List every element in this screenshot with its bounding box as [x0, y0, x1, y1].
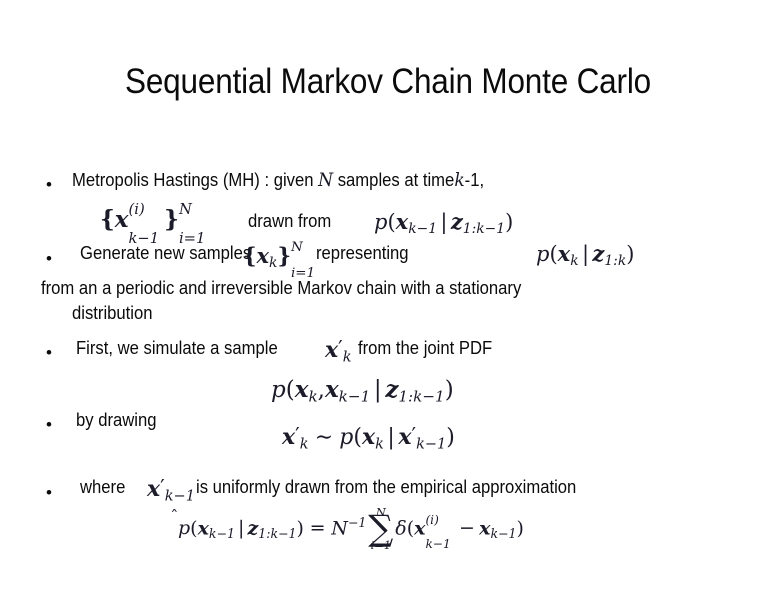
bullet-marker-2: •: [46, 250, 52, 267]
math-x-7: x: [282, 424, 295, 450]
math-sub-k-3: k: [570, 253, 578, 269]
math-x-symbol: x: [115, 206, 129, 233]
math-lparen-5: (: [190, 517, 197, 539]
math-z-2: z: [592, 241, 604, 266]
math-p-hat: p̂: [178, 517, 190, 539]
math-superscript-i-2: (i): [425, 513, 438, 527]
math-p: p: [374, 210, 387, 234]
math-superscript-i: (i): [129, 201, 145, 218]
page-title: Sequential Markov Chain Monte Carlo: [39, 62, 737, 102]
math-sub-k-5: k: [308, 388, 317, 406]
math-z: z: [451, 209, 463, 234]
math-rparen-3: ): [445, 377, 454, 403]
math-sample-set-prev: {x(i)k−1}Ni=1: [100, 206, 212, 233]
math-posterior-prev: p(xk−1|z1:k−1): [374, 209, 513, 234]
math-x: x: [396, 209, 409, 234]
math-sub-1-k: 1:k: [604, 253, 626, 269]
math-sub-k-minus-1-2: k−1: [339, 388, 371, 406]
math-sub-k-minus-1-5: k−1: [209, 526, 235, 541]
math-rparen-6: ): [517, 517, 524, 539]
math-x-10: x: [147, 476, 160, 502]
math-p-5: p: [178, 517, 190, 539]
math-sub-k-minus-1: k−1: [408, 221, 437, 237]
bullet-4-text: by drawing: [76, 410, 157, 430]
math-x-5: x: [295, 376, 309, 403]
math-rbrace-2: }: [277, 243, 291, 268]
math-joint-pdf: p(xk,xk−1|z1:k−1): [271, 376, 454, 403]
math-sub-k-4: k: [343, 349, 352, 365]
math-p-2: p: [536, 242, 549, 266]
math-sub-k-7: k: [375, 436, 384, 452]
math-z-4: z: [247, 517, 258, 539]
math-x-9: x: [398, 424, 411, 450]
bullet-1-text-a: Metropolis Hastings (MH) : given: [72, 169, 314, 190]
bullet-marker-3: •: [46, 344, 52, 361]
bullet-2-text: Generate new samples: [80, 243, 251, 263]
math-rparen: ): [505, 210, 513, 234]
math-x-prime-k-minus-1: x′k−1: [147, 475, 195, 502]
math-conditional-bar: |: [437, 210, 451, 234]
math-x-13: x: [479, 517, 490, 539]
math-superscript-N: N: [179, 201, 192, 218]
math-sub-k-minus-1-7: k−1: [490, 526, 516, 541]
continuation-line-2: distribution: [72, 303, 153, 323]
math-tilde-distributed-as: ∼: [309, 425, 340, 450]
math-sub-k-minus-1-3: k−1: [416, 436, 446, 452]
math-sup-minus-1: −1: [348, 515, 366, 530]
bullet-5-text: where: [80, 477, 125, 497]
bullet-marker-5: •: [46, 484, 52, 501]
representing-label: representing: [316, 243, 409, 263]
math-x-12: x: [414, 517, 425, 539]
bullet-1-line: Metropolis Hastings (MH) : given N sampl…: [72, 170, 484, 191]
math-lbrace: {: [100, 206, 115, 233]
math-sample-set-cur: {xk}Ni=1: [243, 243, 291, 268]
math-p-3: p: [271, 377, 286, 403]
math-conditional-bar-2: |: [579, 242, 593, 266]
math-x-6: x: [325, 376, 339, 403]
math-lparen-2: (: [549, 242, 557, 266]
math-rbrace: }: [164, 206, 179, 233]
math-delta: δ: [395, 517, 406, 539]
math-conditional-bar-4: |: [384, 425, 398, 450]
math-x-11: x: [198, 517, 209, 539]
math-x-2: x: [257, 243, 270, 268]
math-x-8: x: [362, 424, 375, 450]
math-lparen-6: (: [407, 517, 414, 539]
bullet-marker-1: •: [46, 176, 52, 193]
bullet-marker-4: •: [46, 416, 52, 433]
math-p-4: p: [339, 425, 353, 450]
bullet-1-text-c: -1,: [465, 169, 484, 190]
math-sub-1-k-minus-1-2: 1:k−1: [398, 388, 444, 406]
math-sum-lower-limit: i=1: [371, 538, 391, 552]
math-minus: −: [455, 517, 479, 539]
math-N-normalizer: N: [331, 517, 348, 539]
math-comma-1: ,: [318, 377, 325, 403]
math-lparen: (: [387, 210, 395, 234]
math-lparen-3: (: [286, 377, 295, 403]
math-var-N-1: N: [318, 170, 333, 191]
math-conditional-bar-3: |: [370, 377, 385, 403]
math-posterior-cur: p(xk|z1:k): [536, 241, 634, 266]
math-sub-1-k-minus-1: 1:k−1: [463, 221, 505, 237]
math-summation: N∑i=1: [368, 515, 393, 543]
math-rparen-2: ): [626, 242, 634, 266]
math-draw-rule: x′k∼p(xk|x′k−1): [282, 423, 455, 450]
bullet-3-tail: from the joint PDF: [358, 338, 492, 358]
math-equals: =: [304, 517, 331, 539]
math-sub-1-k-minus-1-3: 1:k−1: [258, 526, 296, 541]
math-sum-upper-limit: N: [376, 505, 386, 519]
bullet-3-text: First, we simulate a sample: [76, 338, 278, 358]
drawn-from-label: drawn from: [248, 211, 331, 231]
math-empirical-approximation: p̂(xk−1|z1:k−1)=N−1N∑i=1δ(x(i)k−1−xk−1): [178, 515, 524, 543]
continuation-line-1: from an a periodic and irreversible Mark…: [41, 278, 521, 298]
bullet-5-tail: is uniformly drawn from the empirical ap…: [196, 477, 576, 497]
math-x-prime-k: x′k: [325, 336, 352, 363]
slide-canvas: Sequential Markov Chain Monte Carlo • Me…: [0, 0, 776, 600]
math-var-k-1: k: [454, 170, 464, 191]
math-lparen-4: (: [353, 425, 362, 450]
math-rparen-4: ): [446, 425, 455, 450]
math-z-3: z: [385, 376, 398, 403]
math-x-3: x: [558, 241, 571, 266]
math-subscript-k-minus-1-6: k−1: [425, 537, 450, 551]
math-lbrace-2: {: [243, 243, 257, 268]
math-conditional-bar-5: |: [235, 517, 247, 539]
math-x-4: x: [325, 337, 338, 363]
math-superscript-N-2: N: [291, 240, 303, 255]
math-sub-k-minus-1-4: k−1: [165, 488, 195, 504]
bullet-1-text-b: samples at time: [338, 169, 455, 190]
math-rparen-5: ): [297, 517, 304, 539]
math-sub-k-6: k: [300, 436, 309, 452]
